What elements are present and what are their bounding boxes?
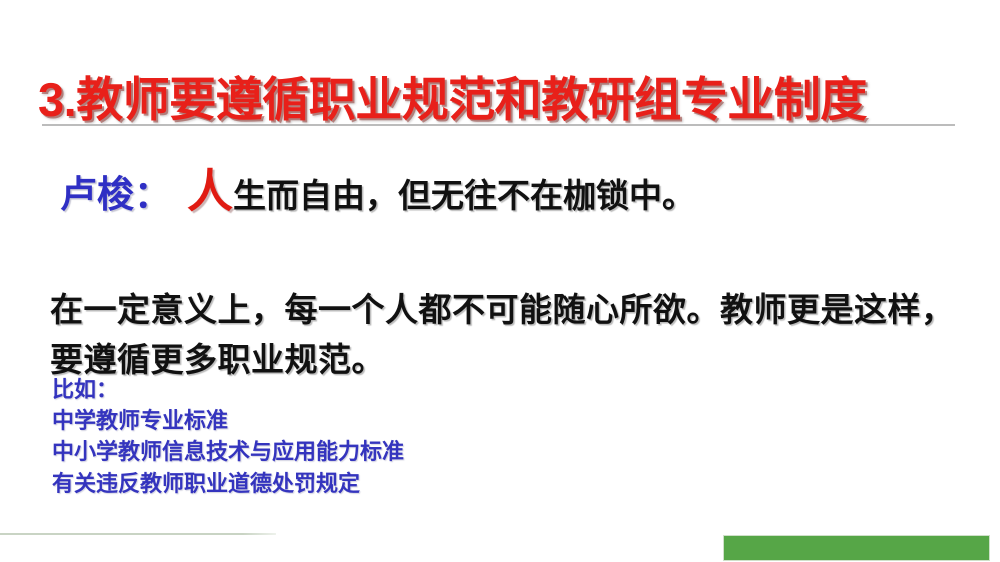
footer-accent-bar [723,535,990,561]
quote-line: 卢梭：人生而自由，但无往不在枷锁中。 [60,168,695,214]
body-paragraph: 在一定意义上，每一个人都不可能随心所欲。教师更是这样，要遵循更多职业规范。 [50,285,960,385]
footer-divider-left [0,533,276,535]
page-title: 3.教师要遵循职业规范和教研组专业制度 [38,75,962,124]
list-item: 中小学教师信息技术与应用能力标准 [52,436,672,467]
list-item: 中学教师专业标准 [52,405,672,436]
quote-highlight-character: 人 [187,165,233,217]
quote-text: 生而自由，但无往不在枷锁中。 [233,177,695,214]
list-item: 比如： [52,374,672,405]
slide-canvas: 3.教师要遵循职业规范和教研组专业制度 卢梭：人生而自由，但无往不在枷锁中。 在… [0,0,1000,562]
example-list: 比如： 中学教师专业标准 中小学教师信息技术与应用能力标准 有关违反教师职业道德… [52,374,672,499]
title-divider [42,124,955,126]
quote-author: 卢梭： [60,174,171,215]
list-item: 有关违反教师职业道德处罚规定 [52,468,672,499]
